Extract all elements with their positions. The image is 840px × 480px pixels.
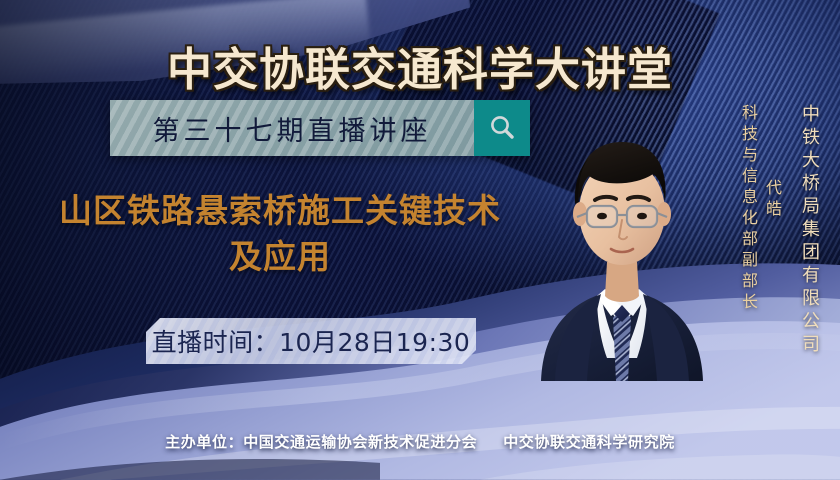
search-icon[interactable] (474, 100, 530, 156)
series-banner-body: 第三十七期直播讲座 (110, 100, 474, 156)
footer-organizer-1: 中国交通运输协会新技术促进分会 (243, 433, 477, 451)
speaker-identity: 代皓 科技与信息化部副部长 (736, 104, 784, 314)
footer-prefix: 主办单位： (165, 433, 243, 451)
speaker-role: 科技与信息化部副部长 (736, 104, 760, 314)
page-title: 中交协联交通科学大讲堂 (0, 44, 840, 96)
webinar-poster: 中交协联交通科学大讲堂 第三十七期直播讲座 山区铁路悬索桥施工关键技术 及应用 … (0, 0, 840, 480)
speaker-organization: 中铁大桥局集团有限公司 (796, 104, 822, 357)
lecture-title: 山区铁路悬索桥施工关键技术 及应用 (20, 188, 540, 279)
series-banner: 第三十七期直播讲座 (110, 100, 530, 156)
lecture-title-line-1: 山区铁路悬索桥施工关键技术 (20, 188, 540, 234)
broadcast-time-banner: 直播时间：10月28日19:30 (146, 318, 476, 364)
speaker-portrait (527, 96, 717, 381)
footer-organizers: 主办单位：中国交通运输协会新技术促进分会中交协联交通科学研究院 (0, 431, 840, 452)
lecture-title-line-2: 及应用 (20, 234, 540, 280)
speaker-name: 代皓 (760, 179, 784, 221)
series-label: 第三十七期直播讲座 (153, 109, 432, 148)
broadcast-time-text: 直播时间：10月28日19:30 (152, 323, 471, 359)
footer-organizer-2: 中交协联交通科学研究院 (503, 433, 675, 451)
